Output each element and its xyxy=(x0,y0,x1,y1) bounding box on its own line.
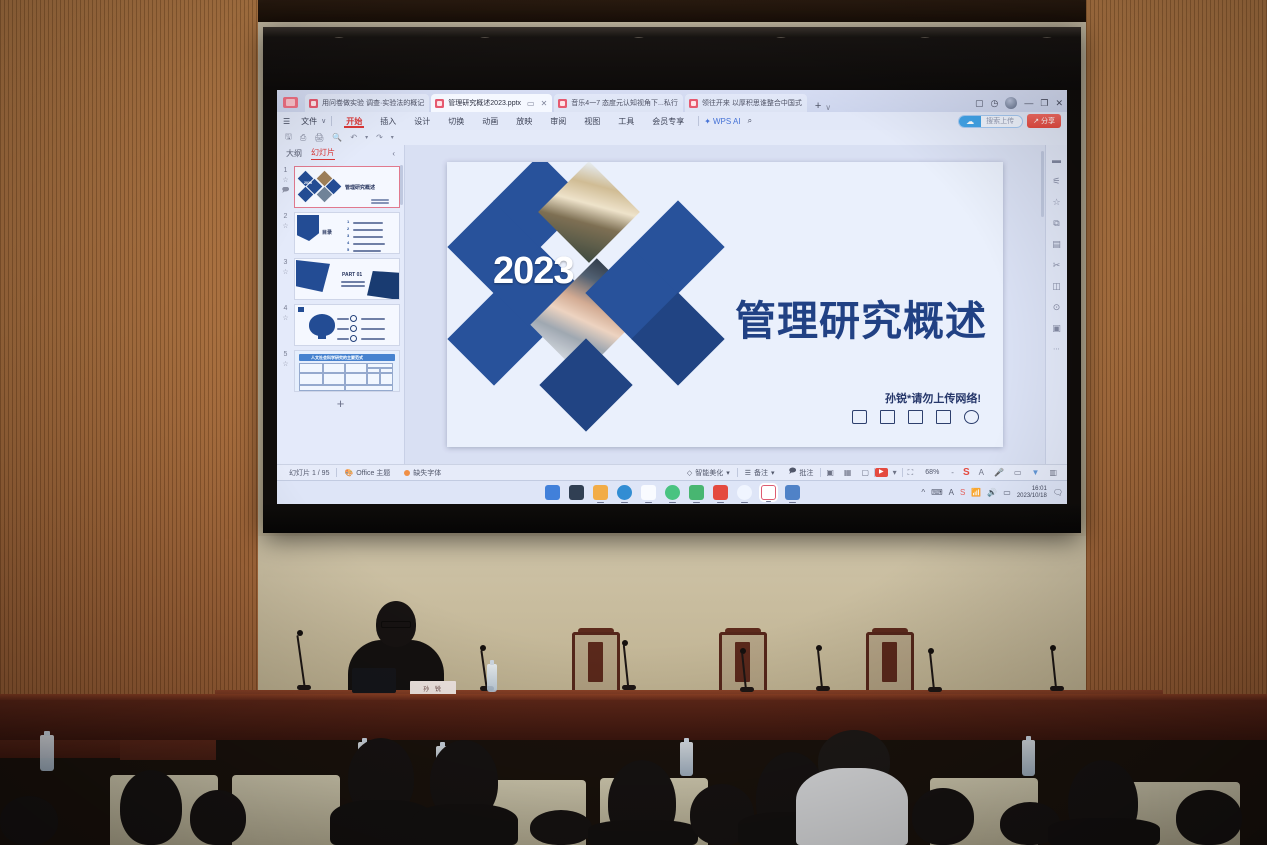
slide-thumb-meta: 2 ☆ xyxy=(279,212,292,254)
document-tab-2-active[interactable]: 管理研究概述2023.pptx ▭ ✕ xyxy=(431,94,552,112)
file-explorer-icon[interactable] xyxy=(593,485,608,500)
ribbon-right-actions[interactable]: ☁ 搜索上传 ↗ 分享 xyxy=(958,114,1061,128)
wps-office-window: 用问卷做实验 调查·实验法的概记 管理研究概述2023.pptx ▭ ✕ 音乐4… xyxy=(277,90,1067,504)
lecture-hall-scene: 用问卷做实验 调查·实验法的概记 管理研究概述2023.pptx ▭ ✕ 音乐4… xyxy=(0,0,1267,845)
slide-thumb-meta: 4 ☆ xyxy=(279,304,292,346)
status-bar[interactable]: 幻灯片 1 / 95 🎨 Office 主题 缺失字体 ◇ 智能美化 xyxy=(277,464,1067,480)
slide-panel-tabs[interactable]: 大纲 幻灯片 ‹ xyxy=(277,145,404,161)
monitor-icon[interactable]: ▭ xyxy=(1009,468,1027,477)
wps-ai-button[interactable]: ✦ WPS AI xyxy=(704,117,740,126)
find-icon[interactable]: 🔍 xyxy=(332,133,342,142)
slide-counter: 幻灯片 1 / 95 xyxy=(282,468,336,478)
history-icon[interactable]: ◷ xyxy=(991,98,999,109)
image-icon xyxy=(880,410,895,424)
document-tab-label: 音乐4一7 态度元认知视角下...私行 xyxy=(571,98,678,108)
ie-browser-icon[interactable] xyxy=(665,485,680,500)
notes-caret-icon[interactable]: ▾ xyxy=(771,469,775,477)
microphone-6 xyxy=(928,648,948,693)
ppt-file-icon xyxy=(689,99,698,108)
print-icon[interactable]: 🖨 xyxy=(314,133,324,142)
keyboard-icon[interactable]: ⌨ xyxy=(931,488,943,497)
slide-footer-icons xyxy=(852,410,979,424)
thumb-title: PART 01 xyxy=(342,272,362,278)
tab-restore-icon[interactable]: ▭ xyxy=(527,99,535,108)
share-button[interactable]: ↗ 分享 xyxy=(1027,114,1061,128)
projected-desktop: 用问卷做实验 调查·实验法的概记 管理研究概述2023.pptx ▭ ✕ 音乐4… xyxy=(277,90,1067,504)
add-slide-button[interactable]: + xyxy=(277,394,404,415)
slide-thumb-item[interactable]: 3 ☆ PART 01 xyxy=(277,256,404,302)
quick-access-toolbar[interactable]: 🖫 ⎙ 🖨 🔍 ↶ ▾ ↷ ▾ xyxy=(277,130,1067,145)
audience-body xyxy=(1048,818,1160,845)
search-icon[interactable]: ⌕ xyxy=(741,116,759,126)
beautify-icon: ◇ xyxy=(687,469,692,477)
start-windows-icon[interactable] xyxy=(545,485,560,500)
water-bottle-1 xyxy=(40,735,54,771)
front-rail-top xyxy=(0,694,1267,700)
wps-office-icon[interactable] xyxy=(761,485,776,500)
slide-thumbnail-4[interactable] xyxy=(294,304,400,346)
layout-icon[interactable]: ◫ xyxy=(1051,280,1063,292)
tab-list-dropdown-icon[interactable]: ∨ xyxy=(825,103,831,112)
slide-title-text: 管理研究概述 xyxy=(735,287,987,347)
slide-thumb-item[interactable]: 2 ☆ 目录 1 2 3 4 5 xyxy=(277,210,404,256)
ime-a-icon[interactable]: A xyxy=(949,488,954,497)
audience-head xyxy=(120,770,182,845)
star-icon[interactable]: ☆ xyxy=(282,360,288,368)
slide-number: 4 xyxy=(284,305,288,312)
audience-head xyxy=(1176,790,1242,845)
document-tab-strip[interactable]: 用问卷做实验 调查·实验法的概记 管理研究概述2023.pptx ▭ ✕ 音乐4… xyxy=(277,90,1067,112)
missing-font-label: 缺失字体 xyxy=(413,468,441,478)
notes-icon: ☰ xyxy=(745,469,751,477)
slide-thumb-meta: 5 ☆ xyxy=(279,350,292,392)
audience-head xyxy=(530,810,592,845)
undo-icon[interactable]: ↶ xyxy=(350,133,357,142)
audience-body xyxy=(412,804,518,845)
current-slide[interactable]: 2023 管理研究概述 孙锐*请勿上传网络! xyxy=(447,162,1003,447)
comment-label: 批注 xyxy=(799,468,813,478)
clock-icon xyxy=(964,410,979,424)
keyboard-icon xyxy=(908,410,923,424)
status-bar-right[interactable]: ◇ 智能美化 ▾ ☰ 备注 ▾ 🗩 批注 xyxy=(680,467,1062,478)
battery-icon[interactable]: ▭ xyxy=(1003,488,1011,497)
fit-to-window-icon[interactable]: ⛶ xyxy=(903,468,919,478)
slideshow-caret-icon[interactable]: ▾ xyxy=(888,468,902,477)
thumb-title: 人文社会科学研究的主要范式 xyxy=(311,355,363,361)
water-bottle-stage xyxy=(487,664,497,692)
document-tab-3[interactable]: 音乐4一7 态度元认知视角下...私行 xyxy=(554,94,683,112)
slide-number: 5 xyxy=(284,351,288,358)
microphone-4 xyxy=(740,648,760,693)
comment-button[interactable]: 🗩 批注 xyxy=(782,467,821,478)
canvas-scrollbar[interactable] xyxy=(1041,151,1044,217)
ribbon-tab-design[interactable]: 设计 xyxy=(405,116,439,127)
close-button[interactable]: ✕ xyxy=(1055,98,1063,109)
water-bottle-4 xyxy=(680,742,693,776)
windows-taskbar[interactable]: ^ ⌨ A S 📶 🔊 ▭ 16:01 2023/10/18 🗨 xyxy=(277,480,1067,504)
tab-slides[interactable]: 幻灯片 xyxy=(311,147,335,160)
ribbon-tab-insert[interactable]: 插入 xyxy=(371,116,405,127)
slide-thumb-item[interactable]: 1 ☆ 🗩 xyxy=(277,164,404,210)
star-icon[interactable]: ☆ xyxy=(282,222,288,230)
taskbar-apps[interactable] xyxy=(545,485,800,500)
chair-3 xyxy=(862,628,918,692)
document-tab-1[interactable]: 用问卷做实验 调查·实验法的概记 xyxy=(305,94,429,112)
text-tool-icon[interactable]: A xyxy=(974,468,989,477)
slide-thumbnail-panel[interactable]: 大纲 幻灯片 ‹ 1 ☆ 🗩 xyxy=(277,145,405,464)
share-icon: ↗ xyxy=(1033,117,1039,125)
wps-ai-label: WPS AI xyxy=(713,117,741,126)
picture-icon[interactable]: ▤ xyxy=(1051,238,1063,250)
camera-icon[interactable]: ▣ xyxy=(1051,322,1063,334)
ppt-file-icon xyxy=(435,99,444,108)
ribbon-divider xyxy=(331,116,332,126)
tab-close-icon[interactable]: ✕ xyxy=(541,99,548,108)
warning-dot-icon xyxy=(404,470,410,476)
ribbon-tab-member[interactable]: 会员专享 xyxy=(643,116,693,127)
ribbon-tab-transition[interactable]: 切换 xyxy=(439,116,473,127)
theme-button[interactable]: 🎨 Office 主题 xyxy=(337,468,397,478)
file-menu-caret-icon[interactable]: ∨ xyxy=(321,117,326,125)
front-rail xyxy=(0,698,1267,740)
scissors-icon[interactable]: ✂ xyxy=(1051,259,1063,271)
presenter-name-card: 孙 锐 xyxy=(410,681,456,695)
star-icon[interactable]: ☆ xyxy=(282,268,288,276)
slide-number: 2 xyxy=(284,213,288,220)
microphone-icon[interactable]: 🎤 xyxy=(989,468,1009,477)
undo-caret-icon[interactable]: ▾ xyxy=(365,134,368,141)
taskbar-system-tray[interactable]: ^ ⌨ A S 📶 🔊 ▭ 16:01 2023/10/18 🗨 xyxy=(921,486,1063,499)
slide-thumbnail-1[interactable]: 2023 管理研究概述 xyxy=(294,166,400,208)
ribbon-tab-view[interactable]: 视图 xyxy=(575,116,609,127)
slide-thumbnail-5[interactable]: 人文社会科学研究的主要范式 xyxy=(294,350,400,392)
ribbon-tab-review[interactable]: 审阅 xyxy=(541,116,575,127)
microphone-1 xyxy=(297,630,317,692)
audience-seat xyxy=(232,775,340,845)
restore-window-icon[interactable]: ▢ xyxy=(975,98,984,109)
theme-icon: 🎨 xyxy=(344,469,353,477)
ppt-file-icon xyxy=(309,99,318,108)
share-label: 分享 xyxy=(1041,116,1055,126)
left-wood-wall xyxy=(0,0,258,700)
slide-note-text: 孙锐*请勿上传网络! xyxy=(885,390,981,406)
editor-body: 大纲 幻灯片 ‹ 1 ☆ 🗩 xyxy=(277,145,1067,464)
theme-label: Office 主题 xyxy=(356,468,390,478)
tab-outline[interactable]: 大纲 xyxy=(286,148,302,159)
view-normal-icon[interactable]: ▣ xyxy=(821,468,839,477)
slide-thumbnail-2[interactable]: 目录 1 2 3 4 5 xyxy=(294,212,400,254)
minimize-button[interactable]: — xyxy=(1024,98,1033,108)
zoom-level[interactable]: 68% xyxy=(918,469,946,476)
cad-app-icon[interactable] xyxy=(713,485,728,500)
star-icon[interactable]: ☆ xyxy=(1051,196,1063,208)
edge-browser-icon[interactable] xyxy=(617,485,632,500)
audience-head xyxy=(0,796,58,845)
slide-number: 3 xyxy=(284,259,288,266)
comment-icon[interactable]: 🗩 xyxy=(282,186,290,197)
microphone-5 xyxy=(816,645,836,693)
window-controls[interactable]: ▢ ◷ — ❐ ✕ xyxy=(975,97,1063,112)
water-bottle-5 xyxy=(1022,740,1035,776)
slide-canvas-area[interactable]: 2023 管理研究概述 孙锐*请勿上传网络! xyxy=(405,145,1045,464)
notes-button[interactable]: ☰ 备注 ▾ xyxy=(738,468,782,478)
print-preview-icon[interactable]: ⎙ xyxy=(300,133,306,143)
blue-app-icon[interactable] xyxy=(785,485,800,500)
slide-thumb-meta: 1 ☆ 🗩 xyxy=(279,166,292,208)
slide-thumb-meta: 3 ☆ xyxy=(279,258,292,300)
app-a-icon[interactable] xyxy=(641,485,656,500)
duplicate-icon[interactable]: ⧉ xyxy=(1051,217,1063,229)
maximize-button[interactable]: ❐ xyxy=(1040,98,1048,109)
presenter-glasses xyxy=(381,621,411,628)
save-icon[interactable]: 🖫 xyxy=(285,131,292,145)
slide-thumbnail-list[interactable]: 1 ☆ 🗩 xyxy=(277,161,404,464)
ribbon-tab-animation[interactable]: 动画 xyxy=(473,116,507,127)
redo-caret-icon[interactable]: ▾ xyxy=(391,134,394,141)
slide-year-text: 2023 xyxy=(493,250,574,293)
star-icon[interactable]: ☆ xyxy=(282,314,288,322)
hamburger-menu-icon[interactable]: ☰ xyxy=(283,117,289,126)
audience-head xyxy=(190,790,246,845)
audience-body-white-shirt xyxy=(796,768,908,845)
beautify-label: 智能美化 xyxy=(695,468,723,478)
grid-icon[interactable]: ▥ xyxy=(1044,468,1062,477)
slide-thumb-item[interactable]: 4 ☆ xyxy=(277,302,404,348)
wps-logo-icon xyxy=(283,97,298,108)
zoom-out-icon[interactable]: - xyxy=(946,468,959,477)
ppt-file-icon xyxy=(558,99,567,108)
more-icon[interactable]: ▬ xyxy=(1051,154,1063,166)
new-tab-button[interactable]: + xyxy=(815,100,821,112)
cloud-upload-placeholder: 搜索上传 xyxy=(981,116,1022,126)
file-menu-button[interactable]: 文件 xyxy=(292,116,321,127)
microphone-7 xyxy=(1050,645,1070,693)
view-reading-icon[interactable]: ▢ xyxy=(856,468,874,477)
document-tab-label: 领往开来 以厚积思谁整合中国式 xyxy=(702,98,802,108)
view-sorter-icon[interactable]: ▦ xyxy=(839,468,857,477)
audience-body xyxy=(588,820,698,845)
microphone-3 xyxy=(622,640,642,692)
missing-font-warning[interactable]: 缺失字体 xyxy=(397,468,448,478)
ai-sparkle-icon: ✦ xyxy=(704,117,711,126)
audience-head xyxy=(912,788,974,845)
chevron-up-icon[interactable]: ^ xyxy=(921,488,925,497)
green-app-icon[interactable] xyxy=(689,485,704,500)
user-avatar[interactable] xyxy=(1005,97,1017,109)
notification-icon[interactable]: 🗨 xyxy=(1053,488,1063,497)
screen-bottom-bezel xyxy=(263,504,1081,533)
notebook-icon xyxy=(936,410,951,424)
slide-panel-scrollbar[interactable] xyxy=(400,165,403,205)
thumb-title: 管理研究概述 xyxy=(345,184,375,191)
ribbon-tab-bar[interactable]: ☰ 文件 ∨ 开始 插入 设计 切换 动画 放映 审阅 视图 工具 会员专享 xyxy=(277,112,1067,130)
document-tab-4[interactable]: 领往开来 以厚积思谁整合中国式 xyxy=(685,94,807,112)
clock-date: 2023/10/18 xyxy=(1017,493,1047,500)
right-tool-rail[interactable]: ▬ ⚟ ☆ ⧉ ▤ ✂ ◫ ⊙ ▣ ⋯ xyxy=(1045,145,1067,464)
filter-icon[interactable]: ▼ xyxy=(1027,468,1045,477)
notes-label: 备注 xyxy=(754,468,768,478)
sogou-input-icon[interactable]: S xyxy=(959,467,974,478)
cloud-upload-field[interactable]: ☁ 搜索上传 xyxy=(958,115,1023,128)
thumb-title: 目录 xyxy=(322,229,332,236)
redo-icon[interactable]: ↷ xyxy=(376,133,383,142)
projection-screen: 用问卷做实验 调查·实验法的概记 管理研究概述2023.pptx ▭ ✕ 音乐4… xyxy=(263,27,1081,533)
slide-number: 1 xyxy=(284,167,288,174)
clock-time: 16:01 xyxy=(1017,486,1047,493)
comment-icon: 🗩 xyxy=(789,467,797,478)
ceiling-shadow xyxy=(258,0,1086,22)
taskbar-clock[interactable]: 16:01 2023/10/18 xyxy=(1017,486,1047,499)
document-tab-label: 管理研究概述2023.pptx xyxy=(448,98,521,108)
chair-1 xyxy=(568,628,624,692)
sogou-icon[interactable]: S xyxy=(960,488,965,497)
monitor-icon xyxy=(852,410,867,424)
ribbon-tab-tools[interactable]: 工具 xyxy=(609,116,643,127)
star-icon[interactable]: ☆ xyxy=(282,176,288,184)
ellipsis-icon[interactable]: ⋯ xyxy=(1051,343,1063,355)
ribbon-divider xyxy=(698,116,699,126)
chevron-left-icon[interactable]: ‹ xyxy=(392,149,395,158)
ribbon-tab-slideshow[interactable]: 放映 xyxy=(507,116,541,127)
document-tab-label: 用问卷做实验 调查·实验法的概记 xyxy=(322,98,424,108)
task-view-icon[interactable] xyxy=(569,485,584,500)
beautify-caret-icon[interactable]: ▾ xyxy=(726,469,730,477)
ribbon-tab-home[interactable]: 开始 xyxy=(337,116,371,127)
right-wood-wall xyxy=(1086,0,1267,700)
slide-thumbnail-3[interactable]: PART 01 xyxy=(294,258,400,300)
help-icon[interactable]: ⊙ xyxy=(1051,301,1063,313)
cloud-upload-icon: ☁ xyxy=(959,115,981,128)
presenter-laptop xyxy=(352,668,396,693)
slide-thumb-item[interactable]: 5 ☆ 人文社会科学研究的主要范式 xyxy=(277,348,404,394)
wifi-icon[interactable]: 📶 xyxy=(971,488,981,497)
screen-top-bezel xyxy=(263,27,1081,90)
slideshow-play-icon[interactable]: ▶ xyxy=(875,468,888,477)
sliders-icon[interactable]: ⚟ xyxy=(1051,175,1063,187)
cloud-app-icon[interactable] xyxy=(737,485,752,500)
beautify-button[interactable]: ◇ 智能美化 ▾ xyxy=(680,468,737,478)
volume-icon[interactable]: 🔊 xyxy=(987,488,997,497)
